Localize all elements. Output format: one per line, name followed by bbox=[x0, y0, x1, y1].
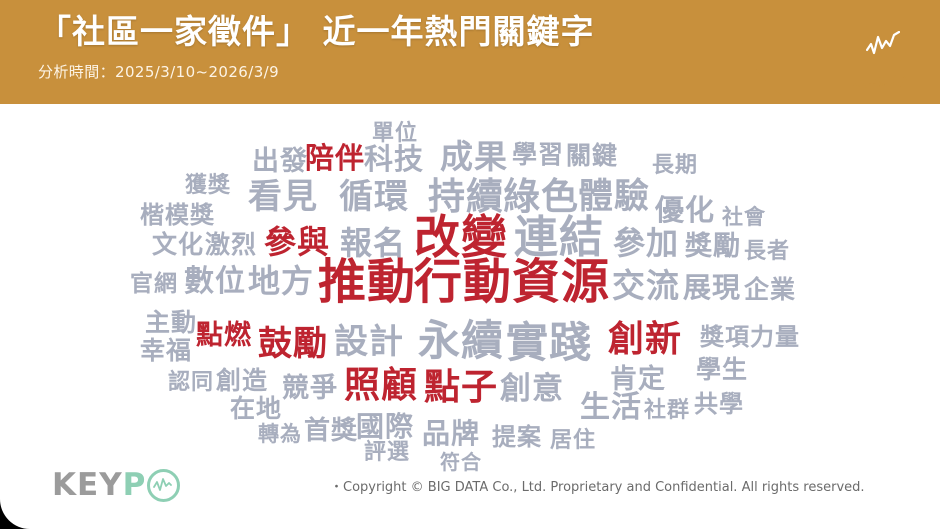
word-cloud-term: 肯定 bbox=[610, 366, 666, 393]
word-cloud-term: 循環 bbox=[339, 180, 409, 214]
word-cloud-term: 社會 bbox=[722, 207, 766, 228]
footer: KEY P ・Copyright © BIG DATA Co., Ltd. Pr… bbox=[0, 459, 940, 529]
word-cloud-term: 生活 bbox=[580, 393, 642, 423]
word-cloud-term: 創意 bbox=[500, 374, 564, 405]
word-cloud-term: 陪伴 bbox=[305, 144, 365, 173]
word-cloud-term: 資源 bbox=[512, 258, 610, 306]
word-cloud-term: 照顧 bbox=[344, 368, 418, 404]
word-cloud-term: 獎勵 bbox=[685, 233, 741, 260]
copyright-text: ・Copyright © BIG DATA Co., Ltd. Propriet… bbox=[330, 476, 865, 495]
word-cloud-term: 幸福 bbox=[140, 338, 192, 363]
word-cloud-term: 綠色 bbox=[503, 178, 579, 215]
word-cloud-term: 認同 bbox=[168, 372, 214, 394]
word-cloud-term: 學生 bbox=[696, 357, 748, 382]
word-cloud-term: 數位 bbox=[184, 267, 246, 297]
word-cloud-term: 企業 bbox=[744, 277, 796, 302]
word-cloud-term: 展現 bbox=[683, 274, 741, 302]
word-cloud-term: 官網 bbox=[130, 273, 178, 296]
word-cloud-term: 長期 bbox=[652, 155, 698, 177]
frame-corner-bottom-left bbox=[0, 469, 40, 529]
word-cloud: 單位出發陪伴科技成果學習關鍵長期獲獎看見循環持續綠色體驗優化楷模獎社會文化激烈參… bbox=[38, 104, 940, 459]
word-cloud-term: 獎項 bbox=[700, 325, 750, 349]
word-cloud-term: 主動 bbox=[145, 310, 197, 335]
keypo-logo-key: KEY bbox=[52, 467, 123, 503]
word-cloud-term: 點子 bbox=[424, 370, 498, 406]
header-text-group: 「社區一家徵件」 近一年熱門關鍵字 分析時間：2025/3/10~2026/3/… bbox=[38, 10, 738, 84]
word-cloud-term: 鼓勵 bbox=[258, 327, 328, 361]
word-cloud-term: 看見 bbox=[248, 180, 318, 214]
word-cloud-term: 科技 bbox=[364, 145, 424, 174]
word-cloud-term: 居住 bbox=[550, 430, 596, 452]
word-cloud-term: 提案 bbox=[492, 425, 542, 449]
page-title: 「社區一家徵件」 近一年熱門關鍵字 bbox=[38, 10, 738, 54]
word-cloud-term: 永續 bbox=[418, 320, 504, 362]
brand-badge: 房產溫度計 bbox=[838, 20, 928, 90]
word-cloud-term: 關鍵 bbox=[566, 143, 618, 168]
word-cloud-term: 地方 bbox=[248, 265, 314, 297]
word-cloud-term: 點燃 bbox=[196, 322, 252, 349]
word-cloud-term: 設計 bbox=[334, 325, 404, 359]
word-cloud-term: 學習 bbox=[512, 142, 564, 167]
word-cloud-term: 行動 bbox=[414, 258, 512, 306]
word-cloud-term: 獲獎 bbox=[185, 175, 231, 197]
keypo-logo-p: P bbox=[123, 467, 147, 503]
word-cloud-term: 共學 bbox=[694, 392, 744, 416]
brand-name: 房產溫度計 bbox=[838, 73, 928, 90]
line-chart-icon bbox=[859, 20, 907, 68]
word-cloud-term: 國際 bbox=[356, 413, 414, 441]
word-cloud-term: 創造 bbox=[216, 368, 268, 393]
word-cloud-term: 競爭 bbox=[282, 375, 338, 402]
word-cloud-term: 首獎 bbox=[304, 418, 358, 444]
word-cloud-term: 推動 bbox=[318, 258, 416, 306]
word-cloud-term: 楷模獎 bbox=[140, 203, 215, 227]
word-cloud-term: 在地 bbox=[230, 396, 282, 421]
keypo-logo: KEY P bbox=[52, 467, 180, 503]
header-band: 「社區一家徵件」 近一年熱門關鍵字 分析時間：2025/3/10~2026/3/… bbox=[0, 0, 940, 104]
word-cloud-term: 激烈 bbox=[205, 232, 257, 257]
word-cloud-term: 優化 bbox=[655, 196, 715, 225]
word-cloud-term: 長者 bbox=[744, 241, 790, 263]
word-cloud-term: 參加 bbox=[613, 227, 679, 259]
wordcloud-infographic: 「社區一家徵件」 近一年熱門關鍵字 分析時間：2025/3/10~2026/3/… bbox=[0, 0, 940, 529]
word-cloud-term: 轉為 bbox=[258, 424, 302, 445]
word-cloud-term: 出發 bbox=[252, 148, 308, 175]
keypo-wave-icon bbox=[147, 469, 180, 502]
word-cloud-term: 交流 bbox=[612, 269, 680, 302]
word-cloud-term: 體驗 bbox=[578, 180, 650, 215]
analysis-period: 分析時間：2025/3/10~2026/3/9 bbox=[38, 60, 738, 84]
word-cloud-term: 社群 bbox=[644, 400, 690, 422]
word-cloud-term: 實踐 bbox=[506, 322, 592, 364]
word-cloud-term: 創新 bbox=[608, 322, 682, 358]
word-cloud-term: 成果 bbox=[440, 140, 508, 173]
word-cloud-term: 力量 bbox=[750, 325, 800, 349]
word-cloud-term: 文化 bbox=[152, 232, 204, 257]
word-cloud-term: 品牌 bbox=[422, 420, 480, 448]
